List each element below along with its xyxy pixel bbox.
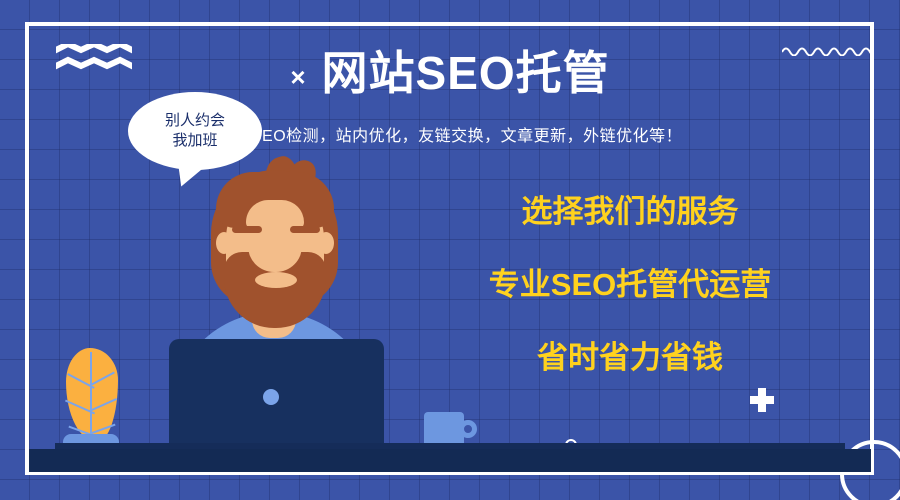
speech-bubble-line-2: 我加班: [172, 131, 217, 151]
speech-bubble: 别人约会 我加班: [128, 92, 262, 170]
plant-stem-shape: [90, 352, 92, 440]
mouth-shape: [255, 272, 297, 288]
seo-banner: × 网站SEO托管 含：SEO检测，站内优化，友链交换，文章更新，外链优化等！ …: [0, 0, 900, 500]
speech-bubble-line-1: 别人约会: [165, 111, 225, 131]
laptop-logo-icon: [263, 389, 279, 405]
desk-front: [29, 449, 871, 472]
eyebrow-right-shape: [290, 226, 320, 233]
eyebrow-left-shape: [232, 226, 262, 233]
ear-left-shape: [216, 232, 232, 254]
ear-right-shape: [318, 232, 334, 254]
